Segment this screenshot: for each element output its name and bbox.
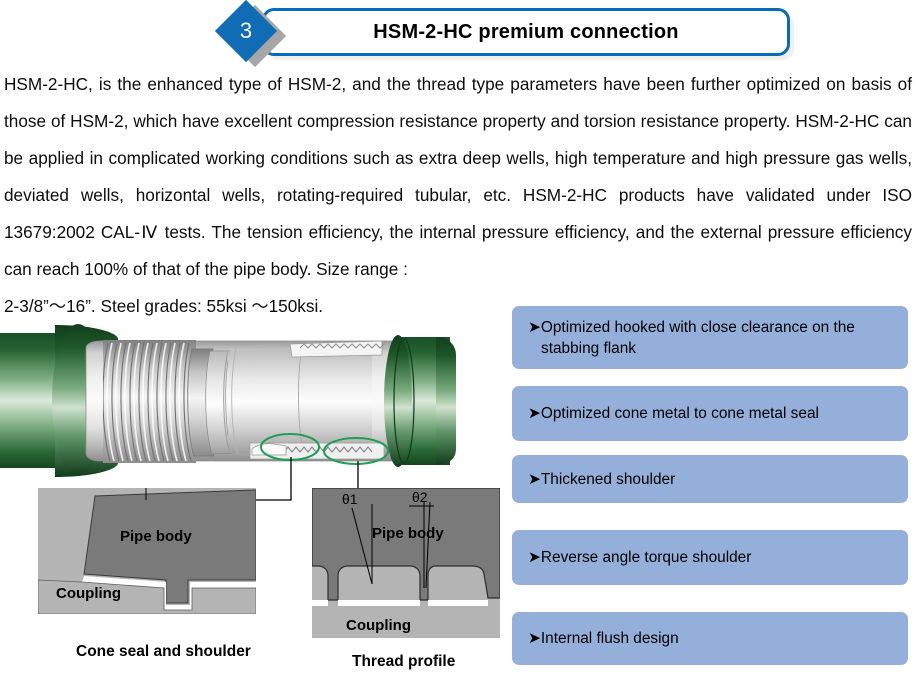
callout-box-3[interactable]: ➤Thickened shoulder [512, 455, 908, 503]
detail-left-pipe-body-label: Pipe body [120, 528, 192, 545]
angle-1-label: θ1 [342, 491, 358, 507]
callout-label-5: ➤Internal flush design [528, 628, 679, 649]
detail-right-pipe-body-label: Pipe body [372, 525, 444, 542]
callout-label-1: ➤Optimized hooked with close clearance o… [528, 317, 900, 359]
detail-diagram-cone-seal: Pipe body Coupling [38, 488, 256, 614]
detail-right-coupling-label: Coupling [346, 617, 411, 634]
callout-label-4: ➤Reverse angle torque shoulder [528, 547, 751, 568]
green-pipe-right [384, 335, 456, 467]
callout-box-5[interactable]: ➤Internal flush design [512, 612, 908, 665]
body-paragraph-main: HSM-2-HC, is the enhanced type of HSM-2,… [4, 74, 912, 279]
callout-box-1[interactable]: ➤Optimized hooked with close clearance o… [512, 306, 908, 369]
pipe-cutaway-illustration [0, 303, 470, 493]
detail-right-caption: Thread profile [352, 652, 532, 672]
upper-thread-band [290, 341, 384, 357]
body-paragraph: HSM-2-HC, is the enhanced type of HSM-2,… [4, 66, 912, 325]
page-title: HSM-2-HC premium connection [262, 8, 790, 56]
callout-label-2: ➤Optimized cone metal to cone metal seal [528, 403, 819, 424]
detail-diagram-thread-profile: θ1 θ2 Pipe body Coupling [312, 488, 500, 638]
slide-canvas: 3 HSM-2-HC premium connection HSM-2-HC, … [0, 0, 916, 692]
detail-left-coupling-label: Coupling [56, 585, 121, 602]
angle-2-label: θ2 [412, 489, 428, 505]
detail-left-caption: Cone seal and shoulder [76, 642, 256, 662]
thread-teeth-group [100, 339, 200, 465]
callout-label-3: ➤Thickened shoulder [528, 469, 675, 490]
callout-box-4[interactable]: ➤Reverse angle torque shoulder [512, 530, 908, 585]
callout-box-2[interactable]: ➤Optimized cone metal to cone metal seal [512, 386, 908, 441]
